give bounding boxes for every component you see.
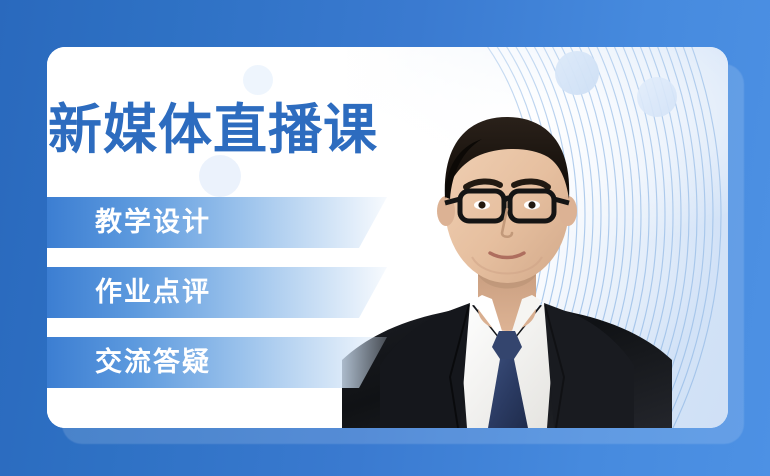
feature-label-2: 作业点评 xyxy=(95,267,211,318)
feature-ribbon-list: 教学设计 作业点评 交流答疑 xyxy=(47,197,387,407)
decor-circle-top xyxy=(243,65,273,95)
page-title: 新媒体直播课 xyxy=(47,99,428,161)
feature-ribbon: 作业点评 xyxy=(47,267,387,318)
content-card: 新媒体直播课 教学设计 作业点评 交流答疑 xyxy=(47,47,728,428)
feature-ribbon: 教学设计 xyxy=(47,197,387,248)
feature-ribbon: 交流答疑 xyxy=(47,337,387,388)
banner-canvas: 新媒体直播课 教学设计 作业点评 交流答疑 xyxy=(0,0,770,476)
feature-label-3: 交流答疑 xyxy=(95,337,211,388)
decor-circle-behind-title xyxy=(199,155,241,197)
feature-label-1: 教学设计 xyxy=(95,197,211,248)
